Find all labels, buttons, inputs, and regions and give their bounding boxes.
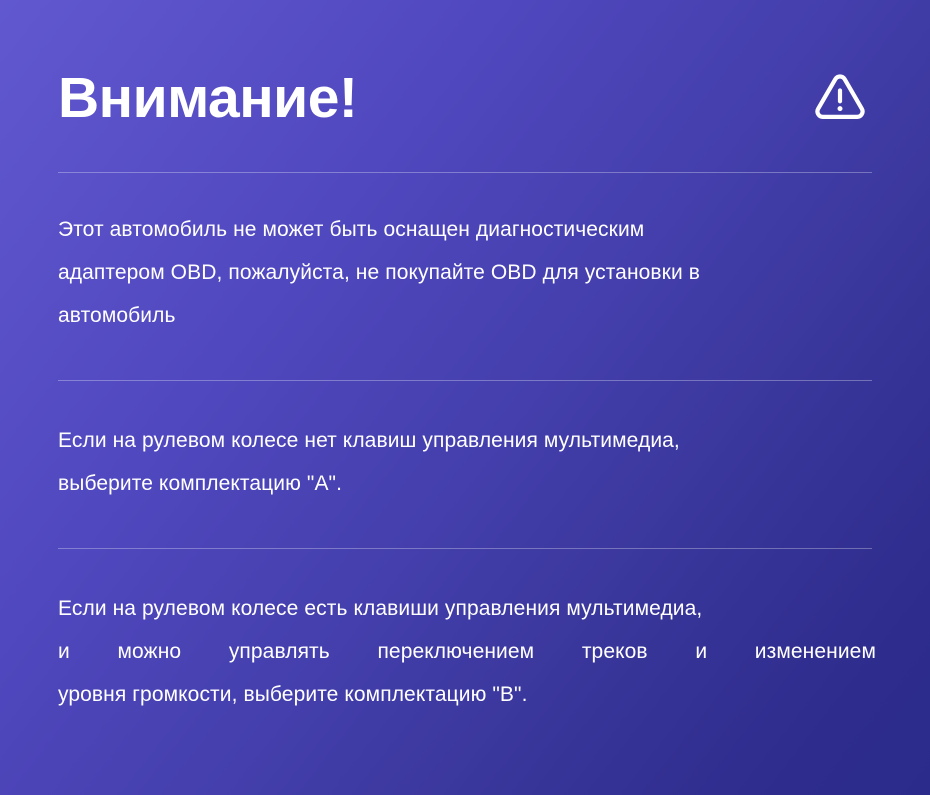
notice-block-obd-warning: Этот автомобиль не может быть оснащен ди… xyxy=(58,208,876,337)
notice-line: уровня громкости, выберите комплектацию … xyxy=(58,673,876,716)
warning-triangle-icon xyxy=(810,68,872,128)
notice-line: и можно управлять переключением треков и… xyxy=(58,630,876,673)
divider-bottom xyxy=(58,548,872,549)
notice-block-variant-a: Если на рулевом колесе нет клавиш управл… xyxy=(58,419,876,505)
notice-line: Если на рулевом колесе нет клавиш управл… xyxy=(58,419,876,462)
notice-line: автомобиль xyxy=(58,294,876,337)
notice-line: Если на рулевом колесе есть клавиши упра… xyxy=(58,587,876,630)
notice-block-variant-b: Если на рулевом колесе есть клавиши упра… xyxy=(58,587,876,716)
notice-line: выберите комплектацию "А". xyxy=(58,462,876,505)
banner-header: Внимание! xyxy=(58,52,872,144)
notice-line: адаптером OBD, пожалуйста, не покупайте … xyxy=(58,251,876,294)
page-title: Внимание! xyxy=(58,67,357,129)
divider-middle xyxy=(58,380,872,381)
notice-line: Этот автомобиль не может быть оснащен ди… xyxy=(58,208,876,251)
divider-top xyxy=(58,172,872,173)
warning-banner: Внимание! Этот автомобиль не может быть … xyxy=(0,0,930,795)
